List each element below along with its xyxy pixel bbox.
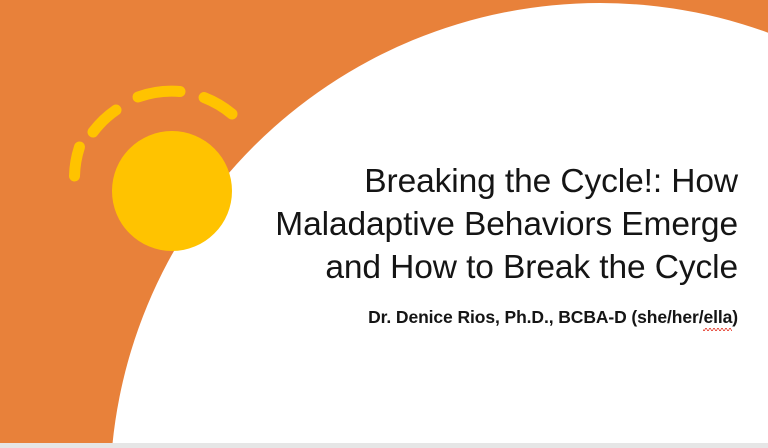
bottom-edge-strip	[0, 443, 768, 448]
sun-ray-3	[138, 91, 180, 97]
sun-ray-2	[93, 110, 116, 132]
title-slide: Breaking the Cycle!: How Maladaptive Beh…	[0, 0, 768, 448]
sun-ray-4	[204, 98, 232, 115]
spellcheck-underlined-word: ella	[703, 306, 732, 329]
presenter-byline: Dr. Denice Rios, Ph.D., BCBA-D (she/her/…	[180, 306, 738, 329]
title-text-block: Breaking the Cycle!: How Maladaptive Beh…	[180, 160, 738, 329]
byline-prefix: Dr. Denice Rios, Ph.D., BCBA-D (she/her/	[368, 307, 703, 327]
page-title: Breaking the Cycle!: How Maladaptive Beh…	[180, 160, 738, 289]
sun-ray-1	[75, 147, 80, 176]
byline-suffix: )	[732, 307, 738, 327]
